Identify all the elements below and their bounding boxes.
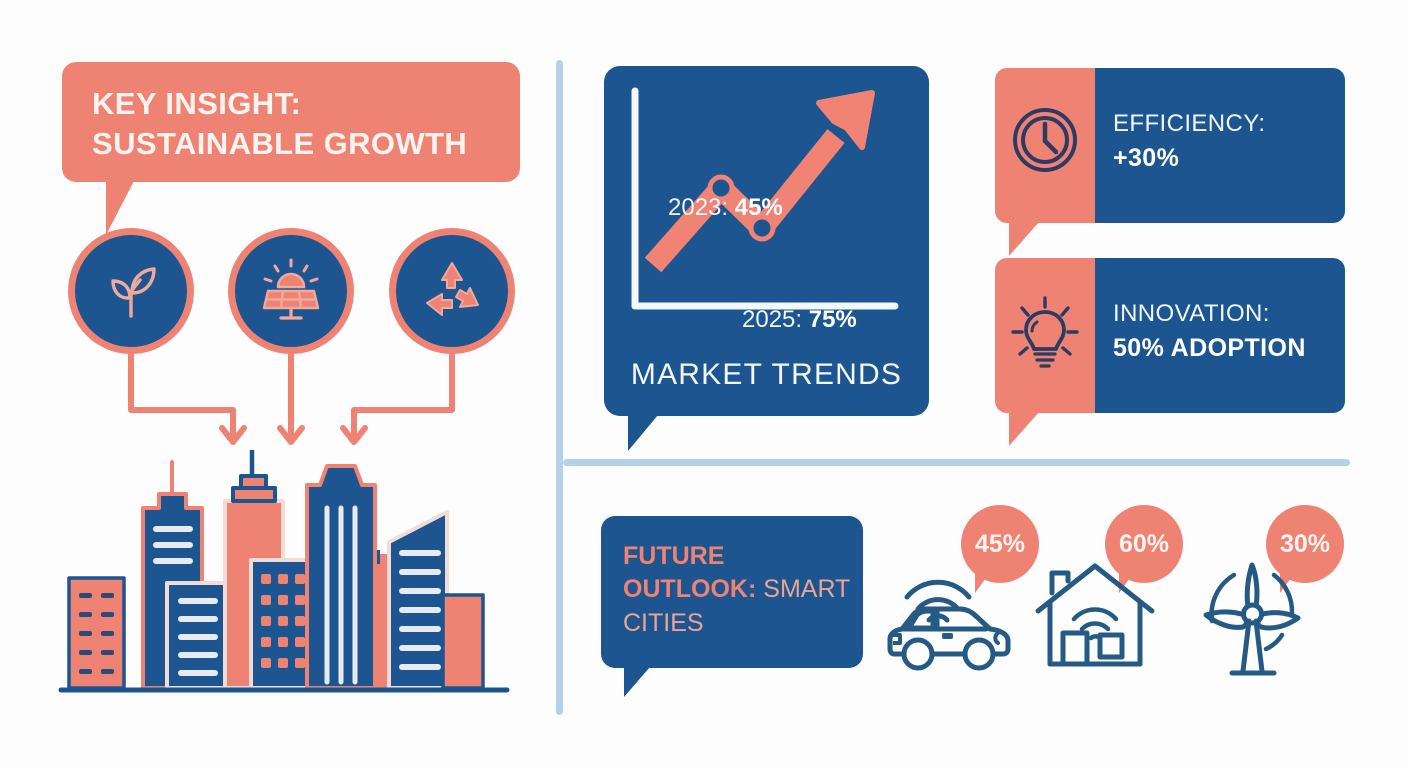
stat-text: INNOVATION: 50% ADOPTION [1113,298,1331,365]
chart-2025-value: 75% [809,306,857,333]
key-insight-bubble: KEY INSIGHT: SUSTAINABLE GROWTH [62,62,520,182]
pillar-circle-solar[interactable] [228,228,354,354]
solar-panel-icon [254,254,328,328]
stat-value-efficiency: +30% [1113,141,1331,175]
stat-tail [1009,412,1039,446]
stat-label-innovation: INNOVATION: [1113,300,1270,327]
chart-annotation-2023: 2023: 45% [668,194,783,222]
chart-annotation-2025: 2025: 75% [742,306,857,334]
chart-2023-year: 2023: [668,194,728,221]
horizontal-divider [563,459,1350,466]
wind-turbine-icon-wrap [1188,559,1318,689]
wind-turbine-icon [1188,559,1318,684]
clock-icon-wrap [1009,104,1081,186]
market-trends-title: MARKET TRENDS [604,358,929,392]
percent-value-home: 60% [1119,530,1169,559]
future-outlook-text: FUTURE OUTLOOK: SMART CITIES [623,540,851,640]
percent-value-wind: 30% [1280,530,1330,559]
vertical-divider [556,60,563,715]
stat-card-innovation: INNOVATION: 50% ADOPTION [995,258,1345,413]
stat-value-innovation: 50% ADOPTION [1113,331,1331,365]
future-outlook-card: FUTURE OUTLOOK: SMART CITIES [601,516,863,668]
market-trends-card: 2023: 45% 2025: 75% MARKET TRENDS [604,66,929,416]
market-trends-tail [628,415,658,451]
pillar-circles [62,228,522,358]
cityscape-illustration [55,450,525,702]
connected-car-icon [880,559,1020,674]
recycling-icon [416,255,488,327]
chart-2025-year: 2025: [742,306,802,333]
stat-text: EFFICIENCY: +30% [1113,108,1331,175]
clock-icon [1009,104,1081,176]
smart-city-item-wind: 30% [1188,505,1388,675]
pillar-circle-sustainability[interactable] [68,228,194,354]
lightbulb-icon [1009,294,1081,374]
connector-arrows [62,352,522,462]
city-skyline-icon [55,450,525,702]
pillar-circle-recycling[interactable] [389,228,515,354]
percent-value-car: 45% [975,530,1025,559]
stat-label-efficiency: EFFICIENCY: [1113,110,1265,137]
key-insight-text: KEY INSIGHT: SUSTAINABLE GROWTH [92,84,504,163]
plant-leaf-icon [96,256,166,326]
key-insight-line2: SUSTAINABLE GROWTH [92,124,504,164]
bubble-tail [106,181,134,235]
future-outlook-line1: FUTURE [623,542,724,570]
smart-home-icon-wrap [1030,559,1160,679]
chart-2023-value: 45% [735,194,783,221]
future-outlook-tail [624,667,650,697]
connected-car-icon-wrap [880,559,1020,679]
infographic-canvas: KEY INSIGHT: SUSTAINABLE GROWTH [0,0,1408,768]
smart-home-icon [1030,559,1160,674]
lightbulb-icon-wrap [1009,294,1081,376]
arrow-group-icon [62,352,522,462]
key-insight-line1: KEY INSIGHT: [92,84,504,124]
stat-tail [1009,222,1039,256]
stat-card-efficiency: EFFICIENCY: +30% [995,68,1345,223]
future-outlook-line2: OUTLOOK: [623,575,756,603]
